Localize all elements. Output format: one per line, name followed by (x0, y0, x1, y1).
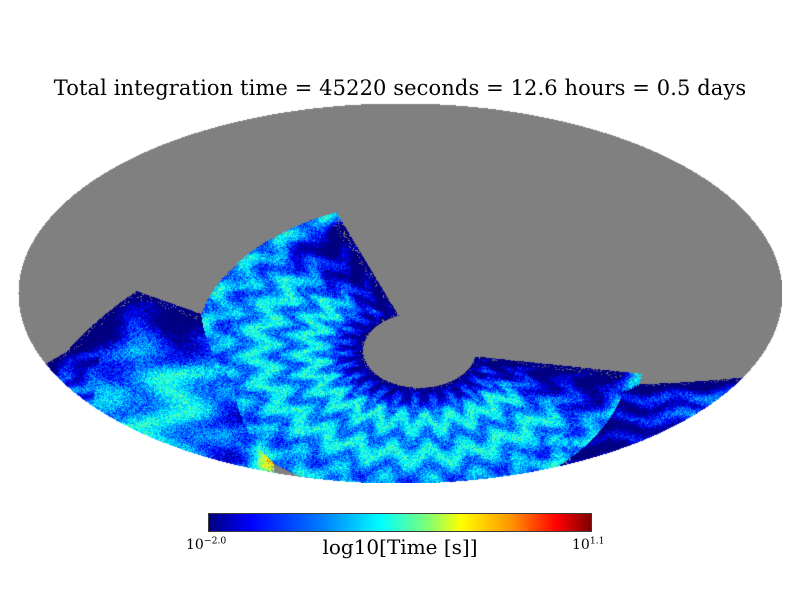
figure-title: Total integration time = 45220 seconds =… (0, 76, 800, 100)
colorbar-gradient (208, 513, 592, 532)
sky-map-canvas (18, 103, 782, 483)
mollweide-sky-map (18, 103, 782, 483)
colorbar-label: log10[Time [s]] (0, 535, 800, 559)
sky-map-figure: Total integration time = 45220 seconds =… (0, 0, 800, 600)
colorbar: 10−2.0 101.1 log10[Time [s]] (0, 511, 800, 571)
